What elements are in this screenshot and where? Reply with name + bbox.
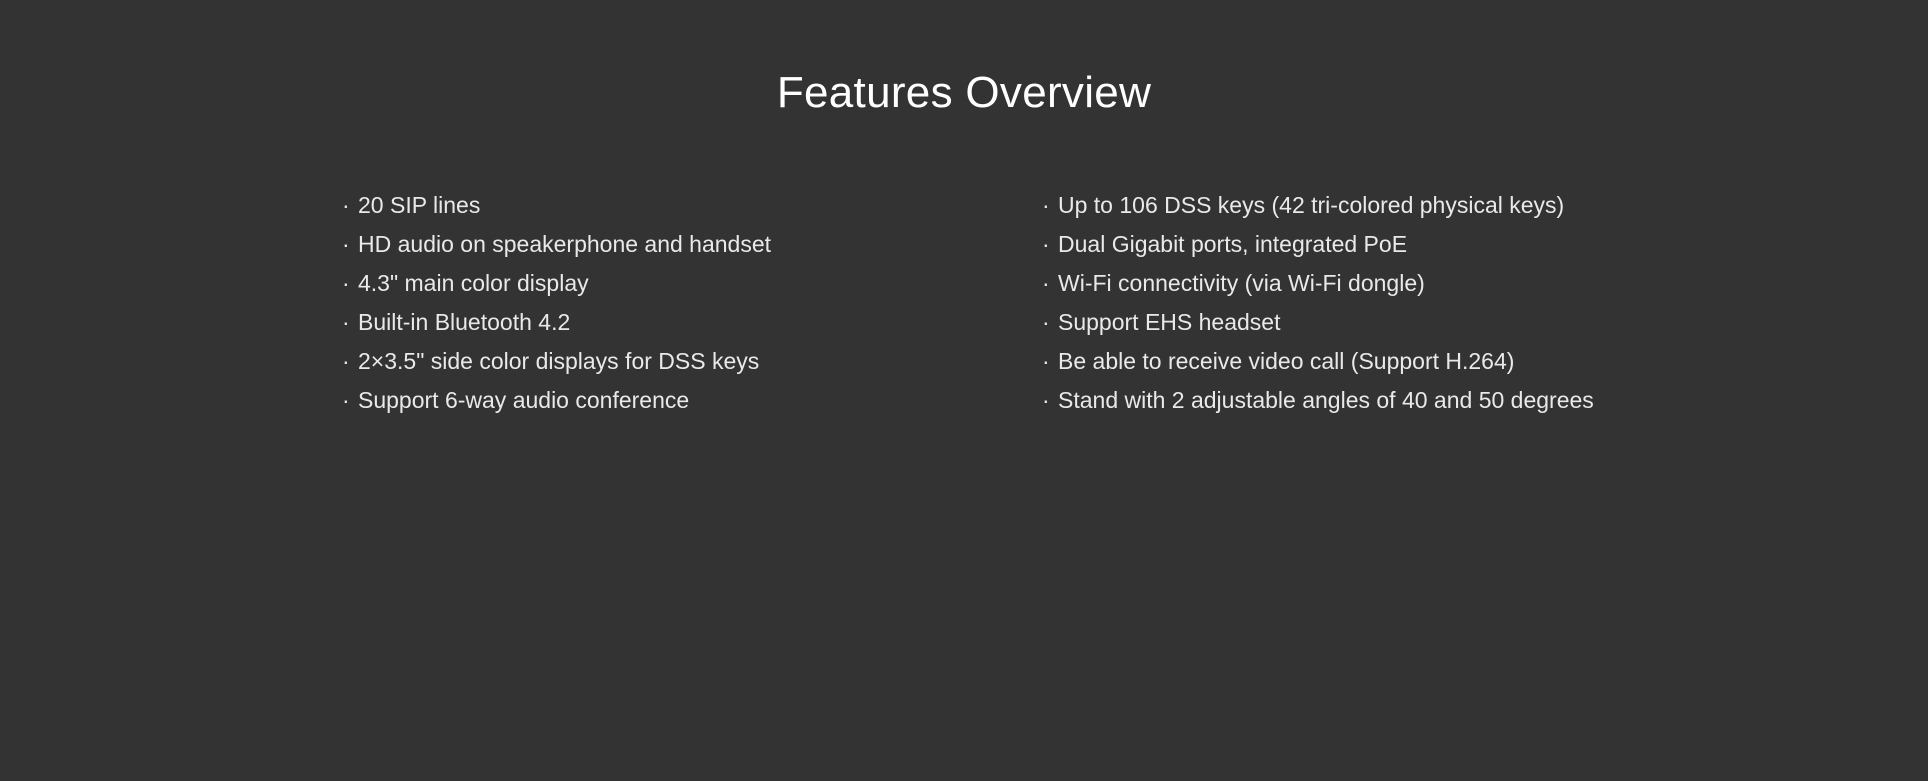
list-item: · Stand with 2 adjustable angles of 40 a… bbox=[1042, 381, 1802, 420]
list-item-label: Dual Gigabit ports, integrated PoE bbox=[1058, 225, 1407, 264]
bullet-dot-icon: · bbox=[1042, 264, 1058, 303]
list-item-label: HD audio on speakerphone and handset bbox=[358, 225, 771, 264]
list-item: · HD audio on speakerphone and handset bbox=[342, 225, 1042, 264]
features-overview-slide: Features Overview · 20 SIP lines · HD au… bbox=[0, 0, 1928, 781]
list-item-label: Be able to receive video call (Support H… bbox=[1058, 342, 1514, 381]
list-item-label: Up to 106 DSS keys (42 tri-colored physi… bbox=[1058, 186, 1564, 225]
bullet-dot-icon: · bbox=[1042, 303, 1058, 342]
bullet-dot-icon: · bbox=[1042, 186, 1058, 225]
list-item: · Be able to receive video call (Support… bbox=[1042, 342, 1802, 381]
features-columns: · 20 SIP lines · HD audio on speakerphon… bbox=[342, 186, 1842, 420]
list-item: · Built-in Bluetooth 4.2 bbox=[342, 303, 1042, 342]
list-item-label: Built-in Bluetooth 4.2 bbox=[358, 303, 570, 342]
list-item-label: 2×3.5" side color displays for DSS keys bbox=[358, 342, 759, 381]
bullet-dot-icon: · bbox=[342, 342, 358, 381]
bullet-dot-icon: · bbox=[342, 225, 358, 264]
list-item: · 2×3.5" side color displays for DSS key… bbox=[342, 342, 1042, 381]
left-column: · 20 SIP lines · HD audio on speakerphon… bbox=[342, 186, 1042, 420]
list-item: · Support 6-way audio conference bbox=[342, 381, 1042, 420]
right-column: · Up to 106 DSS keys (42 tri-colored phy… bbox=[1042, 186, 1802, 420]
list-item-label: Support EHS headset bbox=[1058, 303, 1280, 342]
list-item: · Dual Gigabit ports, integrated PoE bbox=[1042, 225, 1802, 264]
list-item: · Support EHS headset bbox=[1042, 303, 1802, 342]
list-item-label: Support 6-way audio conference bbox=[358, 381, 689, 420]
list-item: · 4.3" main color display bbox=[342, 264, 1042, 303]
bullet-dot-icon: · bbox=[342, 303, 358, 342]
bullet-dot-icon: · bbox=[342, 381, 358, 420]
list-item: · Up to 106 DSS keys (42 tri-colored phy… bbox=[1042, 186, 1802, 225]
bullet-dot-icon: · bbox=[1042, 225, 1058, 264]
list-item-label: 4.3" main color display bbox=[358, 264, 589, 303]
bullet-dot-icon: · bbox=[1042, 381, 1058, 420]
bullet-dot-icon: · bbox=[1042, 342, 1058, 381]
bullet-dot-icon: · bbox=[342, 186, 358, 225]
list-item-label: Wi-Fi connectivity (via Wi-Fi dongle) bbox=[1058, 264, 1425, 303]
page-title: Features Overview bbox=[0, 68, 1928, 119]
list-item-label: 20 SIP lines bbox=[358, 186, 480, 225]
list-item: · Wi-Fi connectivity (via Wi-Fi dongle) bbox=[1042, 264, 1802, 303]
bullet-dot-icon: · bbox=[342, 264, 358, 303]
list-item-label: Stand with 2 adjustable angles of 40 and… bbox=[1058, 381, 1594, 420]
list-item: · 20 SIP lines bbox=[342, 186, 1042, 225]
